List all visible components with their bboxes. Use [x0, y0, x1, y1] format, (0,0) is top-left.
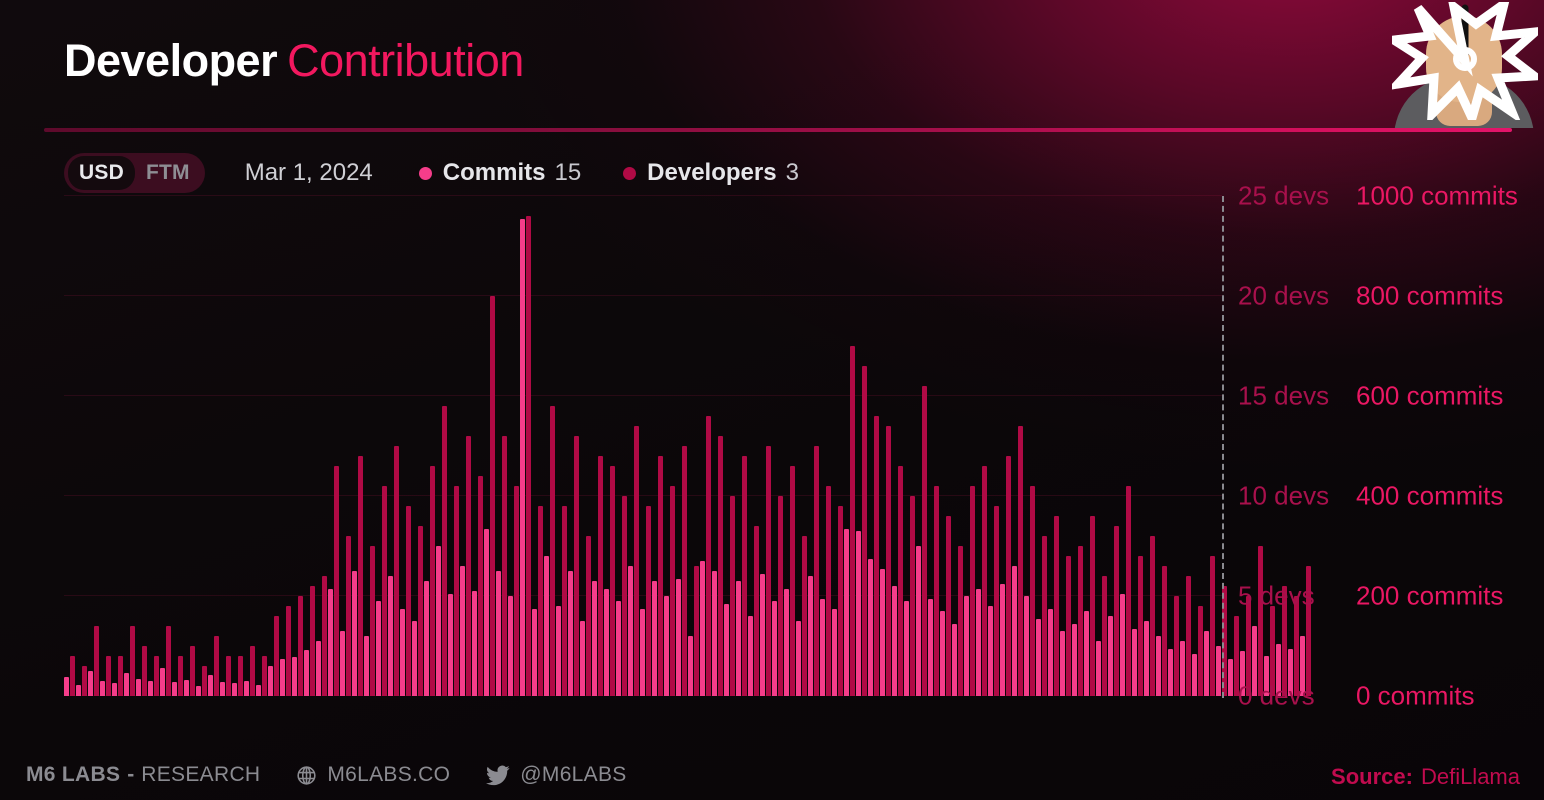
bar-developers: [898, 466, 903, 696]
bar-commits: [508, 596, 513, 696]
bar-developers: [886, 426, 891, 696]
legend-dot-icon: [623, 167, 636, 180]
bar-group[interactable]: [304, 196, 315, 696]
bar-developers: [634, 426, 639, 696]
bar-commits: [844, 529, 849, 697]
bar-group[interactable]: [1192, 196, 1203, 696]
bar-commits: [556, 606, 561, 696]
bar-commits: [724, 604, 729, 697]
source-label: Source:: [1331, 764, 1413, 789]
bar-group[interactable]: [112, 196, 123, 696]
bar-group[interactable]: [928, 196, 939, 696]
bar-group[interactable]: [88, 196, 99, 696]
bar-group[interactable]: [1144, 196, 1155, 696]
bar-developers: [286, 606, 291, 696]
bar-group[interactable]: [1108, 196, 1119, 696]
chart-axis-line: [1222, 196, 1224, 698]
bar-developers: [382, 486, 387, 696]
bar-developers: [730, 496, 735, 696]
legend-value-developers: 3: [786, 159, 799, 187]
bar-group[interactable]: [508, 196, 519, 696]
bar-developers: [166, 626, 171, 696]
bar-group[interactable]: [1024, 196, 1035, 696]
bar-commits: [496, 571, 501, 696]
legend-label-developers: Developers: [647, 159, 776, 187]
bar-group[interactable]: [256, 196, 267, 696]
bar-group[interactable]: [1156, 196, 1167, 696]
bar-commits: [436, 546, 441, 696]
bar-developers: [1174, 596, 1179, 696]
bar-group[interactable]: [556, 196, 567, 696]
bar-developers: [202, 666, 207, 696]
bar-developers: [550, 406, 555, 696]
bar-commits: [388, 576, 393, 696]
bar-group[interactable]: [1012, 196, 1023, 696]
chart-axis-labels: 25 devs1000 commits20 devs800 commits15 …: [1238, 196, 1538, 698]
bar-developers: [142, 646, 147, 696]
bar-group[interactable]: [760, 196, 771, 696]
bar-developers: [310, 586, 315, 696]
bar-developers: [478, 476, 483, 696]
bar-group[interactable]: [580, 196, 591, 696]
bar-developers: [130, 626, 135, 696]
bar-commits: [292, 657, 297, 696]
bar-group[interactable]: [1060, 196, 1071, 696]
bar-group[interactable]: [772, 196, 783, 696]
axis-tick-commits: 0 commits: [1356, 681, 1474, 712]
unit-option-ftm[interactable]: FTM: [135, 156, 201, 190]
bar-group[interactable]: [616, 196, 627, 696]
bar-developers: [1126, 486, 1131, 696]
title-accent: Contribution: [287, 35, 524, 86]
bar-commits: [1012, 566, 1017, 696]
axis-tick-devs: 15 devs: [1238, 381, 1356, 412]
bar-developers: [1198, 606, 1203, 696]
bar-developers: [118, 656, 123, 696]
bar-commits: [1156, 636, 1161, 696]
bar-commits: [1228, 659, 1233, 697]
bar-group[interactable]: [292, 196, 303, 696]
bar-commits: [808, 576, 813, 696]
axis-tick-row: 25 devs1000 commits: [1238, 181, 1538, 212]
bar-developers: [826, 486, 831, 696]
bar-group[interactable]: [424, 196, 435, 696]
bar-commits: [1144, 621, 1149, 696]
bar-commits: [268, 666, 273, 696]
bar-group[interactable]: [496, 196, 507, 696]
bar-group[interactable]: [844, 196, 855, 696]
bar-developers: [1162, 566, 1167, 696]
bar-developers: [526, 216, 531, 696]
page-title: DeveloperContribution: [64, 36, 524, 86]
bar-group[interactable]: [280, 196, 291, 696]
bar-developers: [706, 416, 711, 696]
bar-developers: [274, 616, 279, 696]
bar-group[interactable]: [232, 196, 243, 696]
bar-group[interactable]: [1000, 196, 1011, 696]
bar-developers: [502, 436, 507, 696]
bar-group[interactable]: [268, 196, 279, 696]
bar-commits: [1216, 646, 1221, 696]
bar-group[interactable]: [400, 196, 411, 696]
bar-commits: [1132, 629, 1137, 697]
bar-group[interactable]: [376, 196, 387, 696]
bar-developers: [538, 506, 543, 696]
bar-group[interactable]: [520, 196, 531, 696]
bar-group[interactable]: [388, 196, 399, 696]
bar-group[interactable]: [1096, 196, 1107, 696]
legend-label-commits: Commits: [443, 159, 546, 187]
bar-group[interactable]: [160, 196, 171, 696]
bar-commits: [448, 594, 453, 697]
bar-commits: [112, 683, 117, 696]
footer-source: Source:DefiLlama: [1331, 764, 1520, 790]
bar-group[interactable]: [328, 196, 339, 696]
bar-developers: [610, 466, 615, 696]
bar-developers: [838, 506, 843, 696]
axis-tick-devs: 0 devs: [1238, 681, 1356, 712]
bar-group[interactable]: [640, 196, 651, 696]
bar-developers: [214, 636, 219, 696]
bar-commits: [544, 556, 549, 696]
footer-research: RESEARCH: [141, 763, 260, 787]
bar-commits: [796, 621, 801, 696]
bar-commits: [148, 681, 153, 696]
bar-group[interactable]: [352, 196, 363, 696]
bar-commits: [1120, 594, 1125, 697]
bar-group[interactable]: [820, 196, 831, 696]
bar-commits: [64, 677, 69, 696]
bar-commits: [784, 589, 789, 697]
bar-developers: [346, 536, 351, 696]
bar-group[interactable]: [1204, 196, 1215, 696]
bar-developers: [874, 416, 879, 696]
footer-website[interactable]: M6LABS.CO: [296, 763, 450, 787]
bar-commits: [196, 686, 201, 696]
bar-commits: [1168, 649, 1173, 697]
bar-group[interactable]: [196, 196, 207, 696]
bar-group[interactable]: [1180, 196, 1191, 696]
bar-group[interactable]: [472, 196, 483, 696]
bar-group[interactable]: [220, 196, 231, 696]
bar-commits: [688, 636, 693, 696]
bar-commits: [1084, 611, 1089, 696]
bar-developers: [226, 656, 231, 696]
bar-developers: [370, 546, 375, 696]
bar-group[interactable]: [880, 196, 891, 696]
bar-group[interactable]: [688, 196, 699, 696]
legend-item-commits: Commits 15: [419, 159, 581, 187]
bar-group[interactable]: [412, 196, 423, 696]
bar-commits: [928, 599, 933, 697]
bar-developers: [742, 456, 747, 696]
legend-row: USD FTM Mar 1, 2024 Commits 15 Developer…: [64, 153, 841, 193]
bar-developers: [598, 456, 603, 696]
bar-commits: [340, 631, 345, 696]
bar-group[interactable]: [988, 196, 999, 696]
bar-commits: [244, 681, 249, 696]
axis-tick-commits: 800 commits: [1356, 281, 1503, 312]
bar-group[interactable]: [832, 196, 843, 696]
bar-group[interactable]: [172, 196, 183, 696]
legend-dot-icon: [419, 167, 432, 180]
bar-commits: [280, 659, 285, 696]
bar-group[interactable]: [532, 196, 543, 696]
infographic-root: DeveloperContribution USD FTM Mar 1, 202…: [0, 0, 1544, 800]
bar-developers: [850, 346, 855, 696]
bar-group[interactable]: [124, 196, 135, 696]
bar-commits: [520, 219, 525, 697]
bar-developers: [454, 486, 459, 696]
bar-group[interactable]: [748, 196, 759, 696]
bar-group[interactable]: [1132, 196, 1143, 696]
bar-commits: [1180, 641, 1185, 696]
bar-commits: [88, 671, 93, 696]
bar-chart: [64, 196, 1222, 696]
axis-tick-row: 20 devs800 commits: [1238, 281, 1538, 312]
bar-developers: [802, 536, 807, 696]
bar-developers: [418, 526, 423, 696]
bar-developers: [514, 486, 519, 696]
bar-commits: [1000, 584, 1005, 697]
bar-group[interactable]: [448, 196, 459, 696]
bar-commits: [700, 561, 705, 696]
bar-commits: [460, 566, 465, 696]
bar-developers: [1210, 556, 1215, 696]
bar-group[interactable]: [184, 196, 195, 696]
bar-developers: [1006, 456, 1011, 696]
bar-commits: [580, 621, 585, 696]
bar-group[interactable]: [964, 196, 975, 696]
bar-commits: [1072, 624, 1077, 697]
bar-group[interactable]: [736, 196, 747, 696]
bar-group[interactable]: [1072, 196, 1083, 696]
axis-tick-row: 5 devs200 commits: [1238, 581, 1538, 612]
bar-developers: [694, 566, 699, 696]
bar-group[interactable]: [784, 196, 795, 696]
bar-developers: [970, 486, 975, 696]
bar-commits: [676, 579, 681, 697]
bar-group[interactable]: [796, 196, 807, 696]
bar-developers: [466, 436, 471, 696]
bar-developers: [1042, 536, 1047, 696]
bar-group[interactable]: [208, 196, 219, 696]
bar-group[interactable]: [1048, 196, 1059, 696]
bar-group[interactable]: [148, 196, 159, 696]
footer-twitter-label: @M6LABS: [520, 763, 626, 787]
bar-group[interactable]: [604, 196, 615, 696]
axis-tick-row: 15 devs600 commits: [1238, 381, 1538, 412]
bar-group[interactable]: [664, 196, 675, 696]
footer-brand: M6 LABS: [26, 763, 120, 787]
axis-tick-row: 10 devs400 commits: [1238, 481, 1538, 512]
bar-commits: [748, 616, 753, 696]
bar-commits: [304, 650, 309, 696]
bar-group[interactable]: [856, 196, 867, 696]
footer-twitter[interactable]: @M6LABS: [486, 763, 626, 787]
bar-group[interactable]: [568, 196, 579, 696]
bar-group[interactable]: [340, 196, 351, 696]
bar-developers: [430, 466, 435, 696]
bar-group[interactable]: [808, 196, 819, 696]
bar-developers: [358, 456, 363, 696]
bar-commits: [1192, 654, 1197, 697]
bar-group[interactable]: [904, 196, 915, 696]
bar-group[interactable]: [484, 196, 495, 696]
bar-commits: [364, 636, 369, 696]
bar-commits: [160, 668, 165, 696]
footer-website-label: M6LABS.CO: [327, 763, 450, 787]
bar-commits: [136, 679, 141, 696]
bar-developers: [1030, 486, 1035, 696]
bar-group[interactable]: [64, 196, 75, 696]
footer-left: M6 LABS - RESEARCH M6LABS.CO @M6LABS: [26, 758, 627, 792]
bar-commits: [1036, 619, 1041, 697]
bar-group[interactable]: [1168, 196, 1179, 696]
bar-developers: [94, 626, 99, 696]
bar-commits: [208, 675, 213, 696]
bar-commits: [916, 546, 921, 696]
bar-commits: [940, 611, 945, 696]
star-burst-logo-icon: [1392, 2, 1538, 120]
axis-tick-devs: 20 devs: [1238, 281, 1356, 312]
bar-developers: [178, 656, 183, 696]
bar-developers: [70, 656, 75, 696]
title-main: Developer: [64, 35, 277, 86]
axis-tick-commits: 1000 commits: [1356, 181, 1518, 212]
bar-developers: [406, 506, 411, 696]
bar-developers: [586, 536, 591, 696]
bar-commits: [232, 683, 237, 696]
bar-group[interactable]: [136, 196, 147, 696]
bar-commits: [568, 571, 573, 696]
bar-developers: [298, 596, 303, 696]
bar-group[interactable]: [1120, 196, 1131, 696]
bar-commits: [76, 685, 81, 696]
bar-group[interactable]: [436, 196, 447, 696]
bar-commits: [472, 591, 477, 696]
bar-developers: [190, 646, 195, 696]
axis-tick-commits: 200 commits: [1356, 581, 1503, 612]
bar-commits: [172, 682, 177, 696]
bar-developers: [1150, 536, 1155, 696]
bar-group[interactable]: [628, 196, 639, 696]
bar-group[interactable]: [100, 196, 111, 696]
bar-group[interactable]: [676, 196, 687, 696]
bar-developers: [934, 486, 939, 696]
bar-commits: [256, 685, 261, 696]
bar-commits: [532, 609, 537, 697]
bar-group[interactable]: [460, 196, 471, 696]
bar-commits: [1048, 609, 1053, 697]
bar-commits: [712, 571, 717, 696]
bar-developers: [334, 466, 339, 696]
bar-commits: [604, 589, 609, 697]
bar-developers: [790, 466, 795, 696]
bar-commits: [184, 680, 189, 696]
bar-group[interactable]: [592, 196, 603, 696]
legend-date: Mar 1, 2024: [245, 159, 373, 187]
bar-group[interactable]: [1084, 196, 1095, 696]
bar-commits: [100, 681, 105, 696]
bar-developers: [574, 436, 579, 696]
bar-group[interactable]: [1036, 196, 1047, 696]
source-value: DefiLlama: [1421, 764, 1520, 789]
bar-group[interactable]: [544, 196, 555, 696]
bar-group[interactable]: [892, 196, 903, 696]
bar-commits: [820, 599, 825, 697]
bar-group[interactable]: [952, 196, 963, 696]
bar-commits: [736, 581, 741, 696]
bar-developers: [862, 366, 867, 696]
bar-group[interactable]: [76, 196, 87, 696]
bar-commits: [424, 581, 429, 696]
bar-group[interactable]: [364, 196, 375, 696]
bar-developers: [250, 646, 255, 696]
bar-group[interactable]: [700, 196, 711, 696]
bar-group[interactable]: [316, 196, 327, 696]
bar-commits: [1108, 616, 1113, 696]
bar-developers: [946, 516, 951, 696]
bar-developers: [766, 446, 771, 696]
bar-commits: [376, 601, 381, 696]
bar-group[interactable]: [868, 196, 879, 696]
axis-tick-devs: 25 devs: [1238, 181, 1356, 212]
bar-commits: [664, 596, 669, 696]
bar-developers: [958, 546, 963, 696]
twitter-bird-icon: [486, 765, 510, 786]
bar-developers: [922, 386, 927, 696]
bar-developers: [718, 436, 723, 696]
bar-commits: [592, 581, 597, 696]
bar-developers: [490, 296, 495, 696]
bar-developers: [238, 656, 243, 696]
bar-group[interactable]: [976, 196, 987, 696]
avatar: [1384, 0, 1544, 128]
bar-commits: [484, 529, 489, 697]
bar-commits: [316, 641, 321, 696]
chart-bars: [64, 196, 1222, 696]
bar-developers: [394, 446, 399, 696]
bar-commits: [988, 606, 993, 696]
bar-commits: [616, 601, 621, 696]
bar-commits: [772, 601, 777, 696]
bar-commits: [976, 589, 981, 697]
bar-developers: [1078, 546, 1083, 696]
bar-group[interactable]: [940, 196, 951, 696]
bar-commits: [412, 621, 417, 696]
bar-commits: [856, 531, 861, 696]
bar-developers: [1186, 576, 1191, 696]
unit-option-usd[interactable]: USD: [68, 156, 135, 190]
legend-value-commits: 15: [554, 159, 581, 187]
axis-tick-commits: 400 commits: [1356, 481, 1503, 512]
bar-developers: [754, 526, 759, 696]
unit-toggle[interactable]: USD FTM: [64, 153, 205, 193]
bar-group[interactable]: [724, 196, 735, 696]
bar-group[interactable]: [652, 196, 663, 696]
bar-commits: [964, 596, 969, 696]
bar-developers: [658, 456, 663, 696]
bar-group[interactable]: [712, 196, 723, 696]
bar-developers: [1066, 556, 1071, 696]
bar-group[interactable]: [244, 196, 255, 696]
bar-developers: [442, 406, 447, 696]
bar-group[interactable]: [916, 196, 927, 696]
bar-commits: [1060, 631, 1065, 696]
bar-commits: [352, 571, 357, 696]
bar-commits: [832, 609, 837, 697]
